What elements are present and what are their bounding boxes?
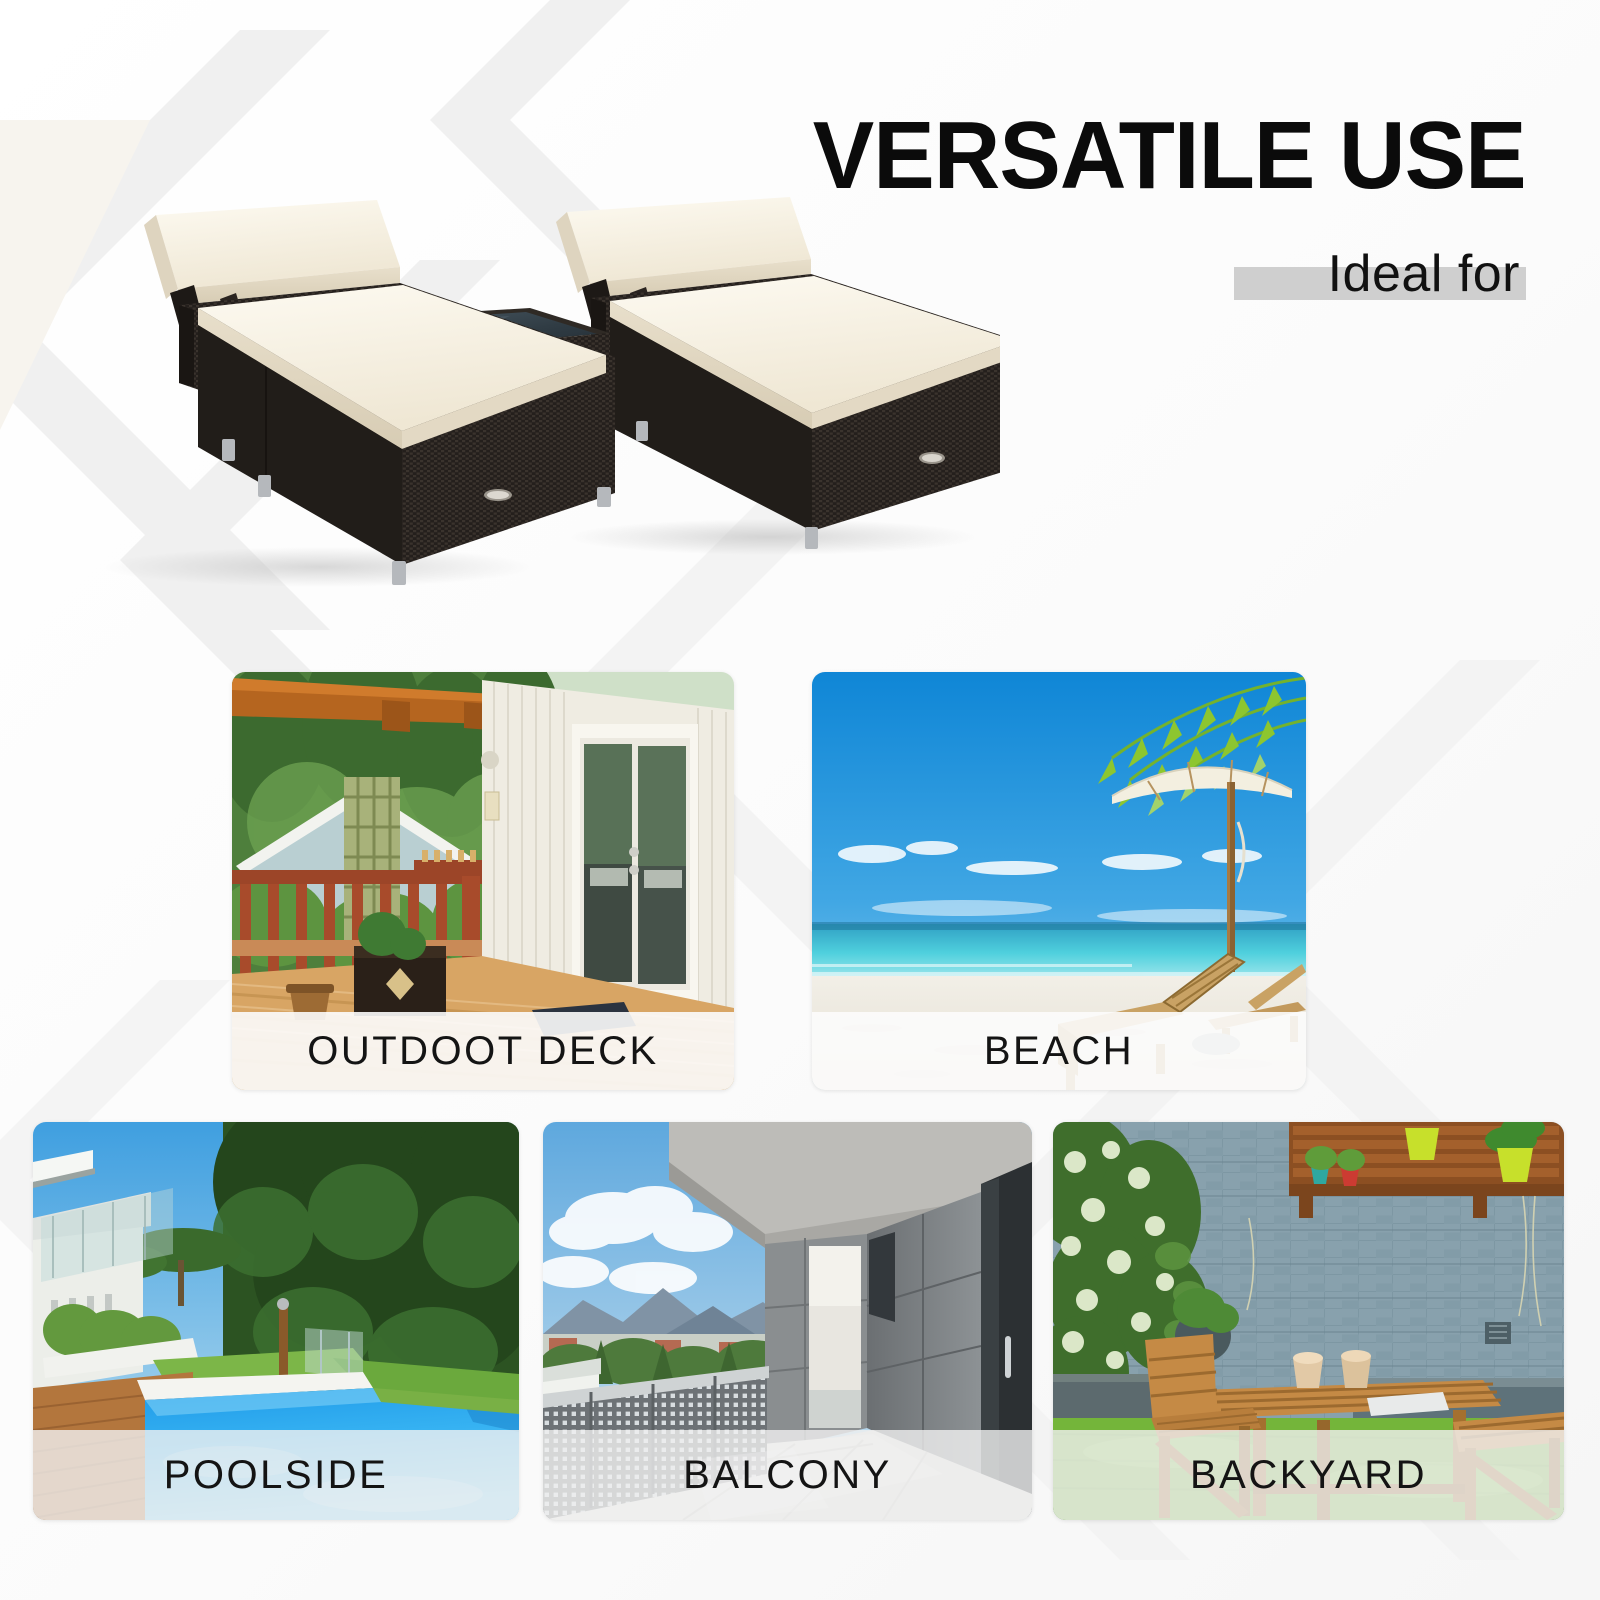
lounger-right bbox=[556, 197, 1000, 549]
use-case-card-outdoor-deck[interactable]: OUTDOOT DECK bbox=[232, 672, 734, 1090]
card-caption: BALCONY bbox=[543, 1430, 1032, 1520]
card-caption: BACKYARD bbox=[1053, 1430, 1564, 1520]
subtitle-wrap: Ideal for bbox=[1328, 244, 1526, 304]
use-case-card-balcony[interactable]: BALCONY bbox=[543, 1122, 1032, 1520]
page-subtitle: Ideal for bbox=[1328, 245, 1526, 303]
card-caption: BEACH bbox=[812, 1012, 1306, 1090]
product-hero-image bbox=[70, 175, 1000, 605]
lounger-left bbox=[144, 200, 615, 585]
use-case-card-poolside[interactable]: POOLSIDE bbox=[33, 1122, 519, 1520]
use-case-card-beach[interactable]: BEACH bbox=[812, 672, 1306, 1090]
product-infographic: VERSATILE USE Ideal for bbox=[0, 0, 1600, 1600]
card-caption: OUTDOOT DECK bbox=[232, 1012, 734, 1090]
card-caption: POOLSIDE bbox=[33, 1430, 519, 1520]
use-case-card-backyard[interactable]: BACKYARD bbox=[1053, 1122, 1564, 1520]
